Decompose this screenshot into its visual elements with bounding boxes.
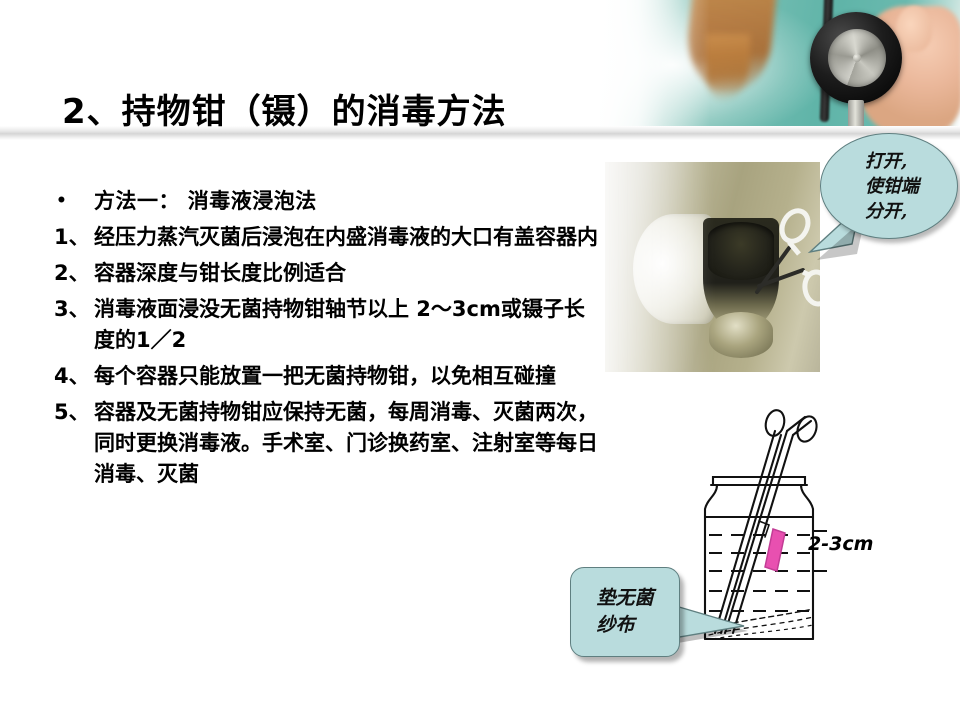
- list-item-marker: 5、: [44, 397, 94, 428]
- list-item-marker: 3、: [44, 294, 94, 325]
- banner-highlight: [600, 0, 710, 130]
- slide: 2、持物钳（镊）的消毒方法 • 方法一： 消毒液浸泡法 1、 经压力蒸汽灭菌后浸…: [0, 0, 960, 720]
- list-item: 2、 容器深度与钳长度比例适合: [44, 258, 604, 289]
- list-item-text: 方法一： 消毒液浸泡法: [94, 186, 604, 217]
- list-item-text: 经压力蒸汽灭菌后浸泡在内盛消毒液的大口有盖容器内: [94, 222, 604, 253]
- list-item-text: 每个容器只能放置一把无菌持物钳，以免相互碰撞: [94, 361, 604, 392]
- list-item-marker: •: [44, 186, 94, 217]
- list-item: • 方法一： 消毒液浸泡法: [44, 186, 604, 217]
- content-list: • 方法一： 消毒液浸泡法 1、 经压力蒸汽灭菌后浸泡在内盛消毒液的大口有盖容器…: [44, 186, 604, 495]
- list-item-text: 消毒液面浸没无菌持物钳轴节以上 2～3cm或镊子长度的1／2: [94, 294, 604, 356]
- measure-label: 2-3cm: [808, 533, 873, 555]
- list-item-text: 容器及无菌持物钳应保持无菌，每周消毒、灭菌两次，同时更换消毒液。手术室、门诊换药…: [94, 397, 604, 490]
- stethoscope-stud-icon: [853, 54, 861, 62]
- list-item: 5、 容器及无菌持物钳应保持无菌，每周消毒、灭菌两次，同时更换消毒液。手术室、门…: [44, 397, 604, 490]
- list-item-text: 容器深度与钳长度比例适合: [94, 258, 604, 289]
- depth-marker: [765, 529, 785, 571]
- list-item: 4、 每个容器只能放置一把无菌持物钳，以免相互碰撞: [44, 361, 604, 392]
- callout-text: 垫无菌 纱布: [596, 585, 653, 639]
- callout-text: 打开, 使钳端 分开,: [859, 149, 919, 224]
- callout-open-forceps: 打开, 使钳端 分开,: [820, 133, 958, 239]
- banner-photo: [600, 0, 960, 130]
- list-item-marker: 1、: [44, 222, 94, 253]
- forceps-ring-2: [794, 414, 820, 445]
- list-item-marker: 4、: [44, 361, 94, 392]
- list-item: 1、 经压力蒸汽灭菌后浸泡在内盛消毒液的大口有盖容器内: [44, 222, 604, 253]
- photo-glare: [605, 162, 711, 372]
- page-title: 2、持物钳（镊）的消毒方法: [62, 84, 602, 133]
- callout-sterile-gauze: 垫无菌 纱布: [570, 567, 680, 657]
- list-item-marker: 2、: [44, 258, 94, 289]
- forceps-container-photo: [605, 162, 820, 372]
- banner-thumb: [896, 6, 932, 52]
- list-item: 3、 消毒液面浸没无菌持物钳轴节以上 2～3cm或镊子长度的1／2: [44, 294, 604, 356]
- jar-right-wall: [801, 485, 813, 639]
